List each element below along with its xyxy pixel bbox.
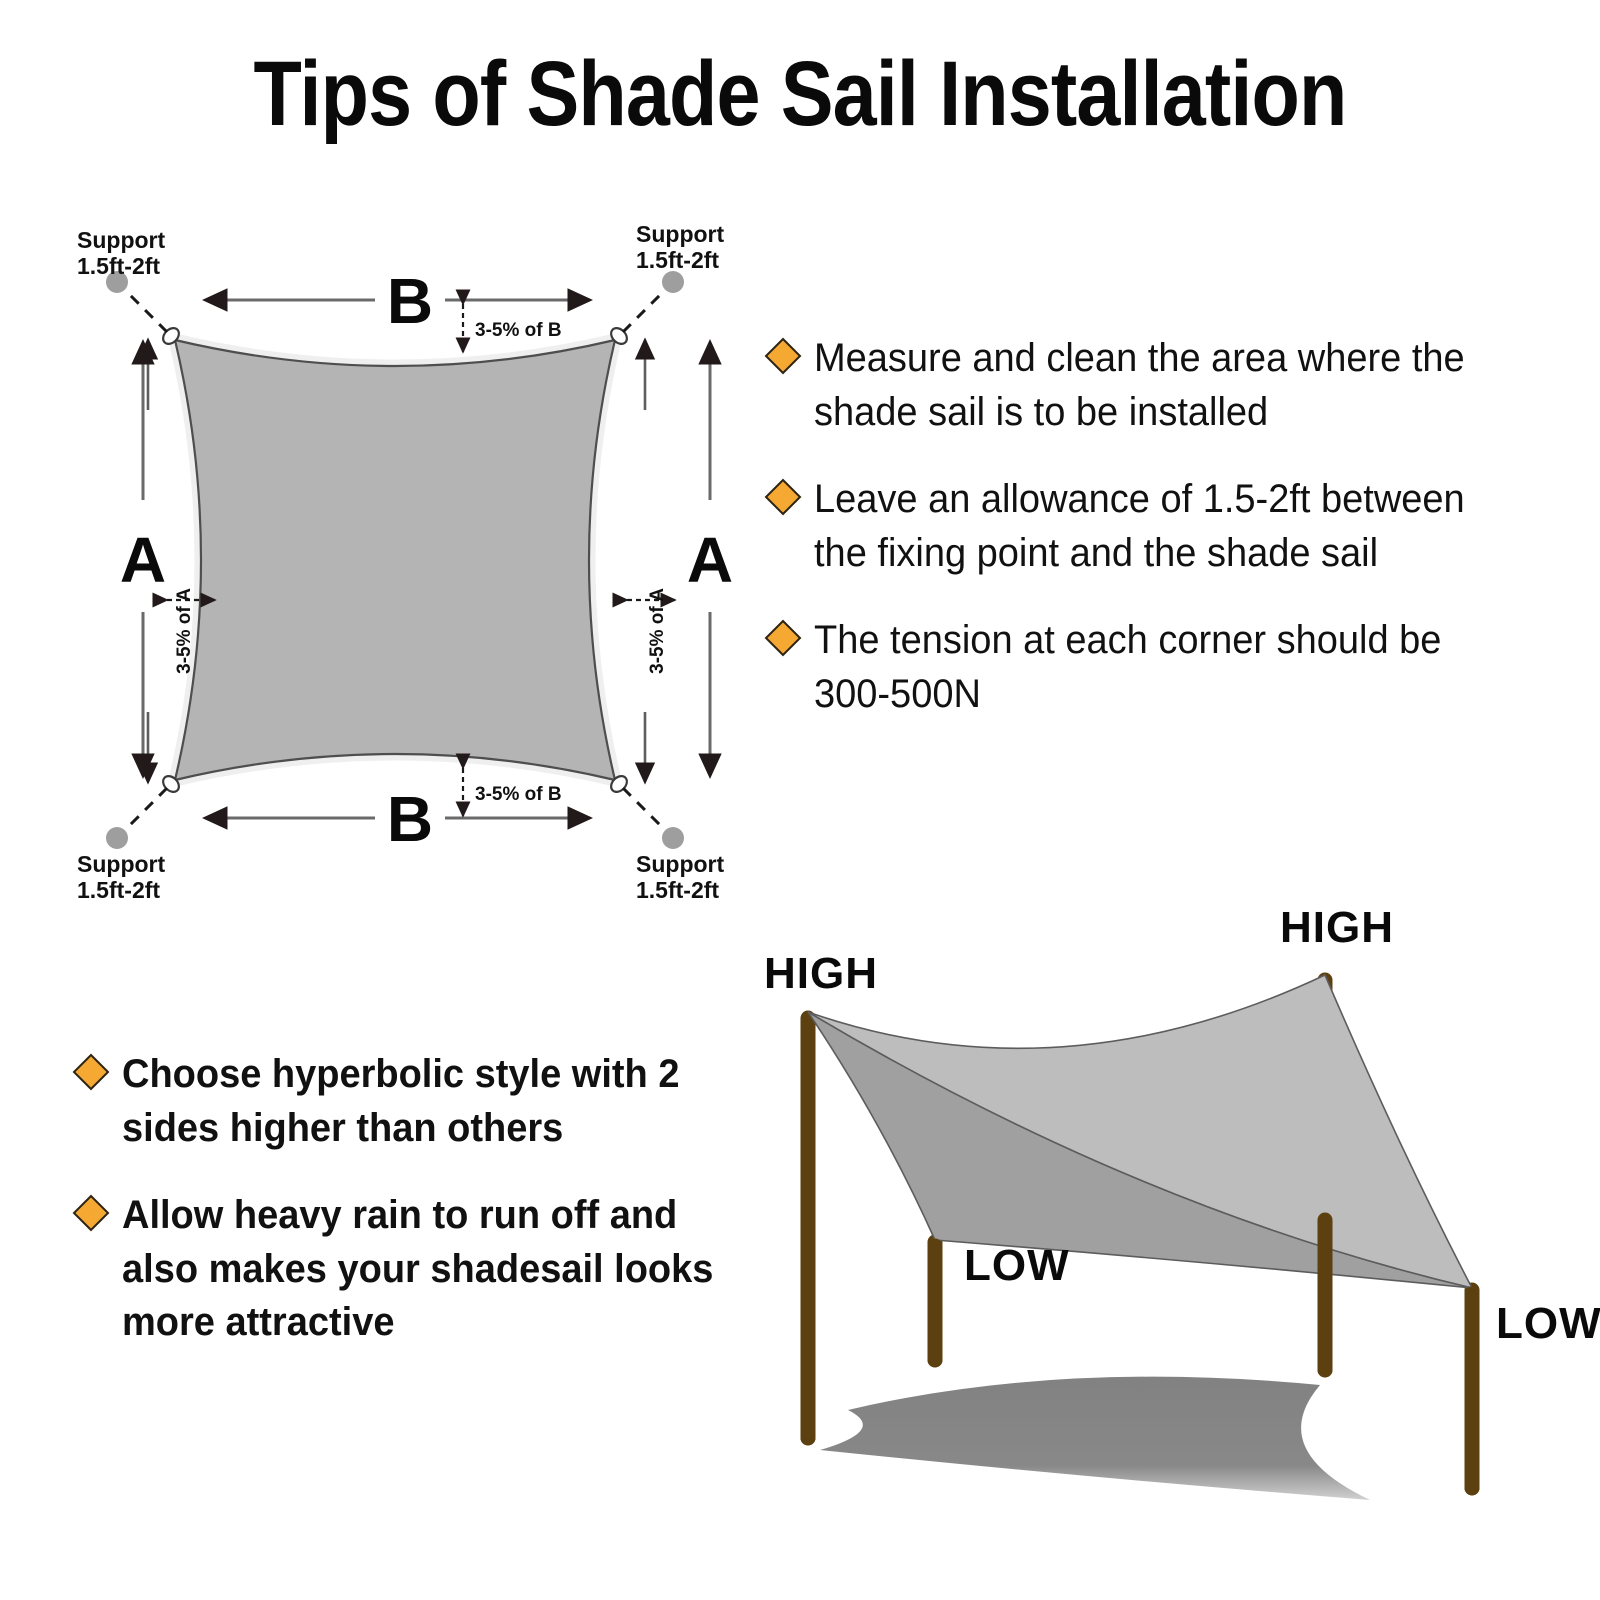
diamond-bullet-icon: [73, 1195, 110, 1232]
ground-shadow: [820, 1377, 1370, 1500]
tip-item: Leave an allowance of 1.5-2ft between th…: [770, 473, 1560, 580]
tip-text: Allow heavy rain to run off and also mak…: [122, 1189, 745, 1350]
diamond-bullet-icon: [765, 479, 802, 516]
shade-sail-shape: [175, 340, 615, 780]
tips-list-bottom: Choose hyperbolic style with 2 sides hig…: [78, 1048, 778, 1384]
anchor-dot-bottom-right: [662, 827, 684, 849]
post-label-left-front: LOW: [964, 1241, 1070, 1290]
svg-text:Support: Support: [636, 221, 724, 247]
dimension-label-a-right: A: [687, 524, 733, 596]
svg-text:1.5ft-2ft: 1.5ft-2ft: [636, 877, 719, 903]
dimension-label-b-top: B: [387, 265, 433, 337]
sail-plan-diagram: B B A A 3-5% of B 3-5% of B: [55, 200, 815, 900]
svg-text:1.5ft-2ft: 1.5ft-2ft: [636, 247, 719, 273]
hyperbolic-sail-shape: [808, 975, 1472, 1288]
support-label-bottom-left: Support 1.5ft-2ft: [77, 851, 165, 903]
dimension-label-a-left: A: [120, 524, 166, 596]
svg-text:1.5ft-2ft: 1.5ft-2ft: [77, 877, 160, 903]
support-label-top-left: Support 1.5ft-2ft: [77, 227, 165, 279]
support-label-bottom-right: Support 1.5ft-2ft: [636, 851, 724, 903]
support-label-top-right: Support 1.5ft-2ft: [636, 221, 724, 273]
post-label-right-front: LOW: [1496, 1299, 1600, 1348]
svg-text:Support: Support: [636, 851, 724, 877]
svg-text:Support: Support: [77, 227, 165, 253]
anchor-dot-top-right: [662, 271, 684, 293]
diamond-bullet-icon: [765, 338, 802, 375]
diamond-bullet-icon: [73, 1054, 110, 1091]
tip-item: Measure and clean the area where the sha…: [770, 332, 1560, 439]
tip-item: Choose hyperbolic style with 2 sides hig…: [78, 1048, 778, 1155]
post-label-left-back: HIGH: [764, 949, 878, 998]
tip-text: Choose hyperbolic style with 2 sides hig…: [122, 1048, 745, 1155]
dimension-label-b-bottom: B: [387, 783, 433, 855]
curve-label-left: 3-5% of A: [174, 588, 195, 674]
tip-item: The tension at each corner should be 300…: [770, 614, 1560, 721]
svg-text:Support: Support: [77, 851, 165, 877]
curve-label-top: 3-5% of B: [475, 320, 562, 341]
tip-text: The tension at each corner should be 300…: [814, 614, 1523, 721]
tip-text: Measure and clean the area where the sha…: [814, 332, 1523, 439]
anchor-dot-bottom-left: [106, 827, 128, 849]
post-label-right-back: HIGH: [1280, 903, 1394, 952]
curve-label-bottom: 3-5% of B: [475, 784, 562, 805]
tip-text: Leave an allowance of 1.5-2ft between th…: [814, 473, 1523, 580]
tips-list-right: Measure and clean the area where the sha…: [770, 332, 1560, 756]
curve-label-right: 3-5% of A: [647, 588, 668, 674]
page-title: Tips of Shade Sail Installation: [112, 42, 1488, 147]
svg-text:1.5ft-2ft: 1.5ft-2ft: [77, 253, 160, 279]
tip-item: Allow heavy rain to run off and also mak…: [78, 1189, 778, 1350]
diamond-bullet-icon: [765, 620, 802, 657]
hypar-diagram: HIGH HIGH LOW LOW: [760, 890, 1600, 1510]
